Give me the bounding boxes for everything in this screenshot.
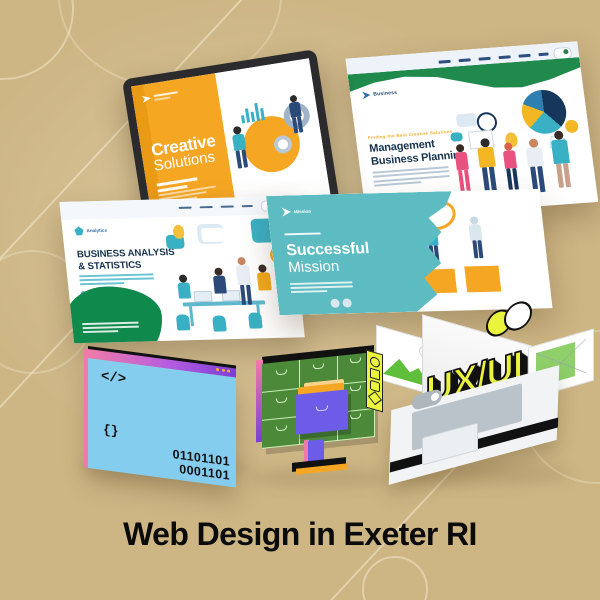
person-head — [469, 216, 478, 224]
drawer-handle-icon — [316, 405, 328, 411]
card-body-copy — [290, 281, 354, 295]
person-leg-a — [235, 150, 242, 168]
pie-chart-graphic — [519, 88, 569, 135]
card-logo[interactable]: Analytics — [74, 226, 107, 236]
file-grid-monitor[interactable] — [252, 352, 376, 480]
speech-bubble-chart — [201, 228, 225, 243]
logo-text: Analytics — [86, 228, 107, 234]
person-head — [237, 257, 246, 265]
logo-text: Business — [373, 90, 398, 98]
person-body — [257, 272, 272, 290]
creative-logo[interactable] — [142, 90, 181, 103]
person-body — [503, 150, 517, 169]
person-5 — [549, 130, 575, 193]
person-leg-b — [464, 170, 471, 192]
move-tool-icon[interactable] — [370, 356, 380, 369]
person-leg-b — [563, 163, 571, 187]
person-head — [214, 268, 223, 276]
card-body-copy — [372, 166, 450, 189]
person-seated-2 — [211, 268, 229, 308]
card-title-line2: & STATISTICS — [78, 259, 142, 272]
chair-3 — [248, 312, 263, 328]
card-logo[interactable]: Mission — [281, 207, 311, 217]
person-body — [468, 224, 482, 240]
window-dot-3-icon[interactable] — [227, 369, 230, 372]
lightbulb-icon — [172, 225, 184, 239]
window-dot-1-icon[interactable] — [216, 368, 219, 371]
card-title-line1: Successful — [285, 241, 370, 260]
decor-ring-top-left — [0, 0, 74, 80]
card-title-line2: Mission — [287, 258, 372, 276]
card-logo[interactable]: Business — [362, 89, 398, 100]
window-dot-2-icon[interactable] — [222, 369, 225, 372]
nav-item-3[interactable] — [478, 57, 490, 60]
laptop-1 — [193, 291, 212, 302]
person-body — [477, 147, 496, 168]
nav-item-4[interactable] — [498, 55, 510, 58]
blob-copy — [82, 322, 139, 335]
code-window-left-stripe — [84, 348, 88, 468]
creative-headline: Creative Solutions — [150, 132, 219, 174]
person-body — [526, 147, 544, 167]
logo-text: Mission — [294, 209, 312, 214]
logo-mark-icon — [362, 91, 371, 100]
isometric-laptop-uxui[interactable]: UX/UI — [384, 312, 590, 490]
poster-canvas: Business Finding the Best Creative Solut… — [0, 0, 600, 600]
card-body-copy — [79, 273, 154, 287]
person-body — [455, 152, 469, 171]
person-body — [236, 265, 251, 285]
person-seated-3 — [255, 264, 275, 308]
grid-cell[interactable] — [262, 416, 300, 449]
bar-chart-graphic — [239, 100, 265, 123]
speech-bubble-1 — [456, 113, 478, 127]
person-jumping-2 — [466, 216, 485, 260]
nav-item-6[interactable] — [538, 52, 548, 55]
person-leg-b — [489, 167, 497, 193]
code-browser-window[interactable]: </> {} 01101101 0001101 — [88, 358, 236, 487]
person-body — [177, 282, 191, 298]
chair-2 — [212, 315, 227, 331]
speech-bubble-2 — [450, 132, 463, 142]
card-pagination-dots[interactable] — [330, 298, 352, 307]
logo-mark-icon — [142, 94, 152, 102]
crop-tool-icon[interactable] — [370, 368, 380, 381]
card-illustration — [439, 83, 593, 205]
successful-mission-card[interactable]: Mission Successful Mission — [266, 189, 553, 315]
person-seated-1 — [176, 274, 194, 314]
person-leg-b — [477, 240, 483, 258]
window-controls[interactable] — [216, 368, 230, 373]
nav-item-4[interactable] — [242, 205, 253, 207]
decor-ring-bottom — [362, 556, 428, 600]
logo-mark-icon — [74, 226, 84, 235]
logo-mark-icon — [281, 207, 291, 216]
person-head — [258, 264, 267, 272]
person-body — [551, 139, 570, 164]
person-leg-a — [240, 285, 246, 305]
podium-right — [464, 266, 501, 293]
code-tag-icon: </> — [101, 369, 126, 388]
curly-brace-icon: {} — [103, 422, 119, 439]
nav-item-2[interactable] — [200, 206, 213, 208]
logo-text-bar-b — [154, 96, 170, 100]
green-blob-shape — [60, 285, 166, 343]
chair-1 — [176, 314, 191, 330]
person-body — [213, 275, 227, 293]
toolbar-panel[interactable] — [366, 350, 383, 413]
open-drawer[interactable] — [296, 389, 348, 434]
person-head — [179, 274, 188, 282]
nav-item-2[interactable] — [458, 58, 470, 61]
page-title: Web Design in Exeter RI — [0, 516, 600, 553]
nav-item-5[interactable] — [518, 54, 530, 57]
nav-item-1[interactable] — [438, 60, 450, 63]
person-leg-b — [246, 285, 252, 305]
card-title: Successful Mission — [285, 241, 371, 275]
nav-item-1[interactable] — [179, 207, 192, 209]
pen-tool-icon[interactable] — [368, 391, 382, 405]
person-leg-b — [241, 149, 248, 167]
nav-item-3[interactable] — [221, 205, 234, 207]
